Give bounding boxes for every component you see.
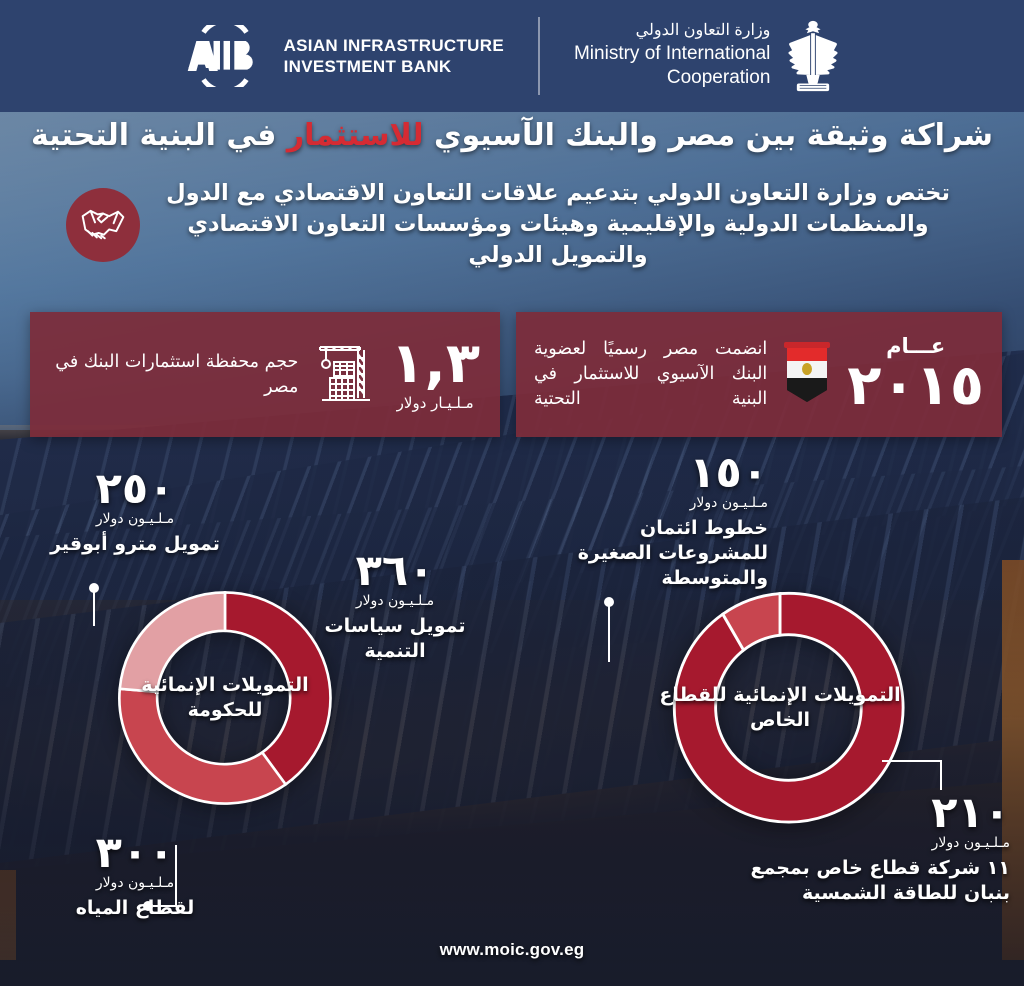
leader-water-line-v (175, 845, 177, 907)
header-divider (538, 17, 540, 95)
callout-policy-value: ٣٦٠ (320, 550, 470, 592)
stat-card-membership-year: عـــام ٢٠١٥ انضمت مصر رسميًا لعضوية البن… (516, 312, 1002, 437)
leader-metro-line (93, 588, 95, 626)
year-number-column: عـــام ٢٠١٥ (847, 336, 984, 412)
aiib-name-line1: ASIAN INFRASTRUCTURE (284, 35, 504, 56)
leader-water-dot (143, 901, 153, 911)
callout-benban: ٢١٠ مـلـيـون دولار ١١ شركة قطاع خاص بمجم… (720, 792, 1010, 906)
callout-metro: ٢٥٠ مـلـيـون دولار تمويل مترو أبوقير (35, 468, 235, 557)
ministry-name-en-line1: Ministry of International (574, 42, 770, 67)
ministry-name-arabic: وزارة التعاون الدولي (574, 21, 770, 42)
leader-water-line-h (153, 905, 177, 907)
footer-website[interactable]: www.moic.gov.eg (0, 940, 1024, 960)
aiib-logo-block: A ASIAN INFRASTRUCTURE INVESTMENT BANK (182, 25, 504, 87)
page-title-part1: شراكة وثيقة بين مصر والبنك الآسيوي (434, 118, 993, 153)
donut-left-svg (105, 578, 345, 818)
header-bar: A ASIAN INFRASTRUCTURE INVESTMENT BANK و… (0, 0, 1024, 112)
aiib-name-line2: INVESTMENT BANK (284, 56, 504, 77)
portfolio-description: حجم محفظة استثمارات البنك في مصر (50, 350, 298, 400)
portfolio-value: ١,٣ (390, 337, 480, 390)
callout-water-desc: لقطاع المياه (40, 896, 230, 921)
page-title: شراكة وثيقة بين مصر والبنك الآسيوي للاست… (0, 118, 1024, 153)
callout-metro-desc: تمويل مترو أبوقير (35, 532, 235, 557)
aiib-logo-icon: A (182, 25, 268, 87)
handshake-icon (80, 205, 126, 245)
donut-left-slice-policy[interactable] (225, 592, 330, 784)
portfolio-unit: مـلـيـار دولار (397, 394, 474, 412)
aiib-name: ASIAN INFRASTRUCTURE INVESTMENT BANK (284, 35, 504, 78)
callout-metro-unit: مـلـيـون دولار (35, 511, 235, 527)
callout-water-value: ٣٠٠ (40, 832, 230, 874)
callout-credit-value: ١٥٠ (568, 452, 768, 494)
subtitle-text: تختص وزارة التعاون الدولي بتدعيم علاقات … (158, 178, 958, 271)
egypt-eagle-emblem-icon (784, 18, 842, 94)
donut-left-slice-metro[interactable] (120, 592, 225, 691)
callout-credit-desc: خطوط ائتمان للمشروعات الصغيرة والمتوسطة (568, 516, 768, 590)
leader-benban-line-h (882, 760, 942, 762)
callout-benban-desc: ١١ شركة قطاع خاص بمجمع بنبان للطاقة الشم… (720, 856, 1010, 905)
callout-credit: ١٥٠ مـلـيـون دولار خطوط ائتمان للمشروعات… (568, 452, 768, 590)
handshake-badge (66, 188, 140, 262)
ministry-name-en-line2: Cooperation (574, 66, 770, 91)
egypt-flag-icon (781, 340, 833, 410)
callout-water-unit: مـلـيـون دولار (40, 875, 230, 891)
callout-credit-unit: مـلـيـون دولار (568, 495, 768, 511)
page-title-part3: في البنية التحتية (31, 118, 276, 153)
ministry-name: وزارة التعاون الدولي Ministry of Interna… (574, 21, 770, 91)
callout-policy: ٣٦٠ مـلـيـون دولار تمويل سياسات التنمية (320, 550, 470, 664)
donut-left-slice-water[interactable] (119, 689, 285, 804)
year-value: ٢٠١٥ (847, 359, 984, 412)
stat-card-portfolio-size: ١,٣ مـلـيـار دولار حجم محفظة استثمارات ا… (30, 312, 500, 437)
subtitle-section: تختص وزارة التعاون الدولي بتدعيم علاقات … (0, 178, 1024, 271)
construction-crane-icon (312, 340, 376, 410)
callout-policy-unit: مـلـيـون دولار (320, 593, 470, 609)
callout-benban-value: ٢١٠ (720, 792, 1010, 834)
callout-policy-desc: تمويل سياسات التنمية (320, 614, 470, 663)
svg-text:A: A (187, 38, 211, 75)
donut-right-slice-benban[interactable] (674, 593, 903, 822)
page-title-part2: للاستثمار (287, 118, 424, 153)
membership-description: انضمت مصر رسميًا لعضوية البنك الآسيوي لل… (534, 337, 767, 412)
callout-benban-unit: مـلـيـون دولار (720, 835, 1010, 851)
callout-water: ٣٠٠ مـلـيـون دولار لقطاع المياه (40, 832, 230, 921)
donut-chart-government: التمويلات الإنمائية للحكومة (105, 578, 345, 818)
leader-benban-line-v (940, 760, 942, 790)
ministry-logo-block: وزارة التعاون الدولي Ministry of Interna… (574, 18, 842, 94)
portfolio-number-column: ١,٣ مـلـيـار دولار (390, 337, 480, 412)
leader-credit-line (608, 602, 610, 662)
callout-metro-value: ٢٥٠ (35, 468, 235, 510)
